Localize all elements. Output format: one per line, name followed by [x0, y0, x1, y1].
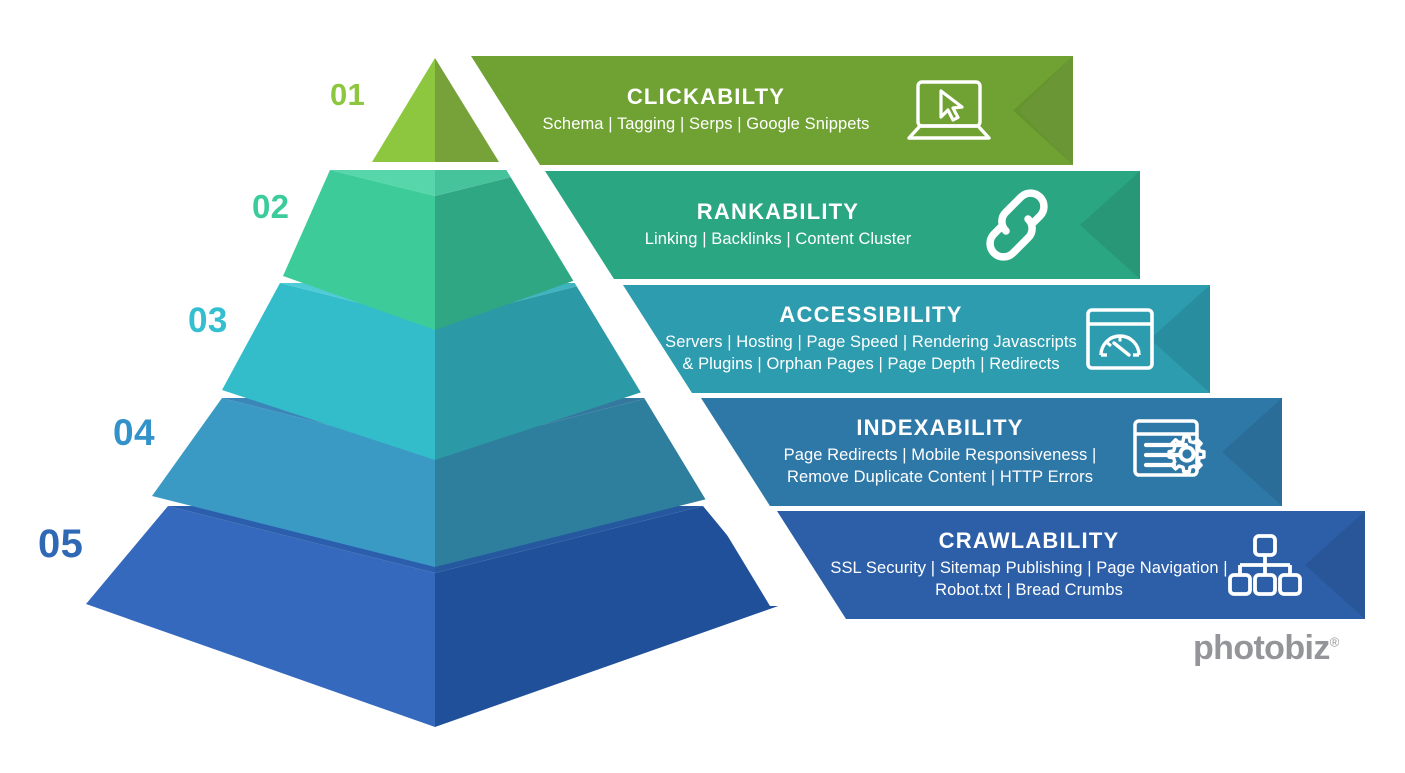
- photobiz-logo: photobiz®: [1193, 631, 1339, 665]
- banner-05-subtitle-line-2: Robot.txt | Bread Crumbs: [935, 579, 1123, 601]
- banner-indexability[interactable]: INDEXABILITY Page Redirects | Mobile Res…: [678, 398, 1282, 506]
- banner-accessibility[interactable]: ACCESSIBILITY Servers | Hosting | Page S…: [600, 285, 1210, 393]
- banner-05-text: CRAWLABILITY SSL Security | Sitemap Publ…: [804, 511, 1254, 619]
- logo-wordmark: photobiz: [1193, 629, 1330, 667]
- banner-02-text: RANKABILITY Linking | Backlinks | Conten…: [598, 171, 958, 279]
- tier-01-left-face: [372, 58, 435, 162]
- browser-speedometer-icon: [1082, 305, 1158, 373]
- banner-03-subtitle-line-2: & Plugins | Orphan Pages | Page Depth | …: [682, 353, 1059, 375]
- banner-04-subtitle-line-1: Page Redirects | Mobile Responsiveness |: [784, 444, 1097, 466]
- step-number-05: 05: [38, 524, 83, 564]
- document-gear-icon: [1130, 416, 1222, 488]
- banner-04-text: INDEXABILITY Page Redirects | Mobile Res…: [734, 398, 1146, 506]
- banner-01-subtitle-line-1: Schema | Tagging | Serps | Google Snippe…: [543, 113, 870, 135]
- banner-rankability[interactable]: RANKABILITY Linking | Backlinks | Conten…: [522, 171, 1140, 279]
- link-chain-icon: [974, 187, 1060, 263]
- infographic-canvas: 01 02 03 04 05 CLICKABILTY Schema | Tagg…: [0, 0, 1405, 773]
- banner-01-text: CLICKABILTY Schema | Tagging | Serps | G…: [526, 56, 886, 165]
- registered-trademark-icon: ®: [1330, 635, 1340, 650]
- banner-01-title: CLICKABILTY: [627, 85, 785, 109]
- step-number-04: 04: [113, 414, 155, 451]
- step-number-02: 02: [252, 190, 289, 223]
- banner-crawlability[interactable]: CRAWLABILITY SSL Security | Sitemap Publ…: [754, 511, 1365, 619]
- banner-04-title: INDEXABILITY: [856, 416, 1023, 440]
- banner-clickability[interactable]: CLICKABILTY Schema | Tagging | Serps | G…: [448, 56, 1073, 165]
- banner-04-subtitle-line-2: Remove Duplicate Content | HTTP Errors: [787, 466, 1093, 488]
- banner-02-subtitle-line-1: Linking | Backlinks | Content Cluster: [645, 228, 912, 250]
- banner-03-title: ACCESSIBILITY: [779, 303, 962, 327]
- sitemap-icon: [1226, 532, 1304, 598]
- banner-02-title: RANKABILITY: [697, 200, 859, 224]
- step-number-03: 03: [188, 303, 228, 338]
- laptop-cursor-icon: [903, 76, 995, 146]
- banner-03-text: ACCESSIBILITY Servers | Hosting | Page S…: [662, 285, 1080, 393]
- banner-05-title: CRAWLABILITY: [939, 529, 1120, 553]
- banner-03-subtitle-line-1: Servers | Hosting | Page Speed | Renderi…: [665, 331, 1077, 353]
- step-number-01: 01: [330, 79, 365, 110]
- banner-05-subtitle-line-1: SSL Security | Sitemap Publishing | Page…: [830, 557, 1227, 579]
